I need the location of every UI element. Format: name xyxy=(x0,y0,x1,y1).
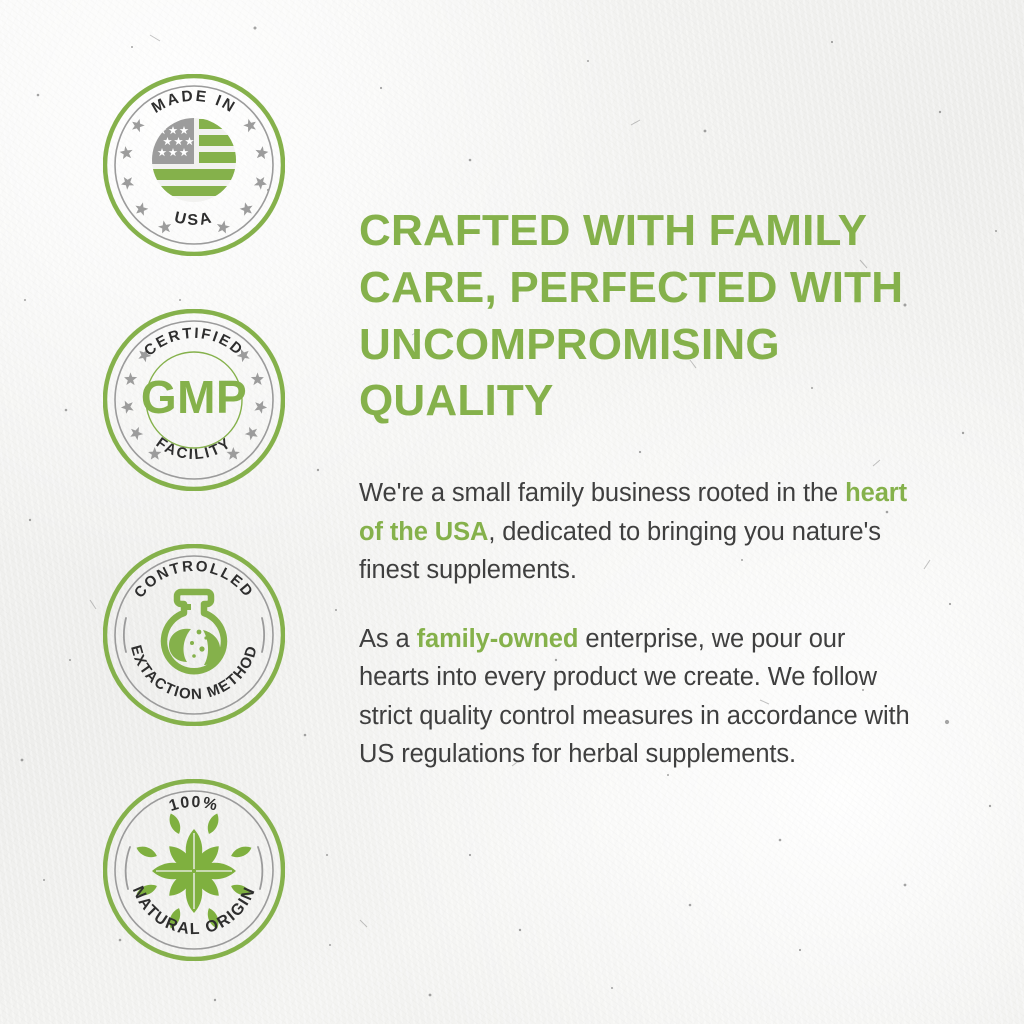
paragraph-2: As a family-owned enterprise, we pour ou… xyxy=(359,620,919,774)
headline-line: CRAFTED WITH FAMILY xyxy=(359,206,867,255)
headline-line: CARE, PERFECTED WITH xyxy=(359,263,903,312)
paragraph-1: We're a small family business rooted in … xyxy=(359,474,919,590)
badge-natural-origin: 100% NATURAL ORIGIN xyxy=(103,779,285,961)
badge-top-label: 100% xyxy=(167,794,220,815)
promo-page: MADE IN USA xyxy=(0,0,1024,1024)
badge-bottom-label: USA xyxy=(173,209,216,229)
text-segment: As a xyxy=(359,625,417,653)
badge-made-in-usa: MADE IN USA xyxy=(103,74,285,256)
badge-gmp-certified: GMP CERTIFIED FACILITY xyxy=(103,309,285,491)
badge-side-arcs xyxy=(124,618,264,652)
content-column: CRAFTED WITH FAMILY CARE, PERFECTED WITH… xyxy=(359,203,919,774)
highlight-family-owned: family-owned xyxy=(417,625,579,653)
text-segment: We're a small family business rooted in … xyxy=(359,479,845,507)
headline-line: QUALITY xyxy=(359,376,554,425)
page-headline: CRAFTED WITH FAMILY CARE, PERFECTED WITH… xyxy=(359,203,919,430)
gmp-text-icon: GMP xyxy=(141,371,247,423)
certification-badges: MADE IN USA xyxy=(103,74,285,1014)
badge-bottom-label: FACILITY xyxy=(153,434,235,463)
usa-flag-circle-icon xyxy=(149,118,243,204)
flask-leaf-icon xyxy=(164,578,224,671)
headline-line: UNCOMPROMISING xyxy=(359,320,780,369)
body-copy: We're a small family business rooted in … xyxy=(359,474,919,774)
badge-controlled-extraction: CONTROLLED EXTACTION METHOD xyxy=(103,544,285,726)
